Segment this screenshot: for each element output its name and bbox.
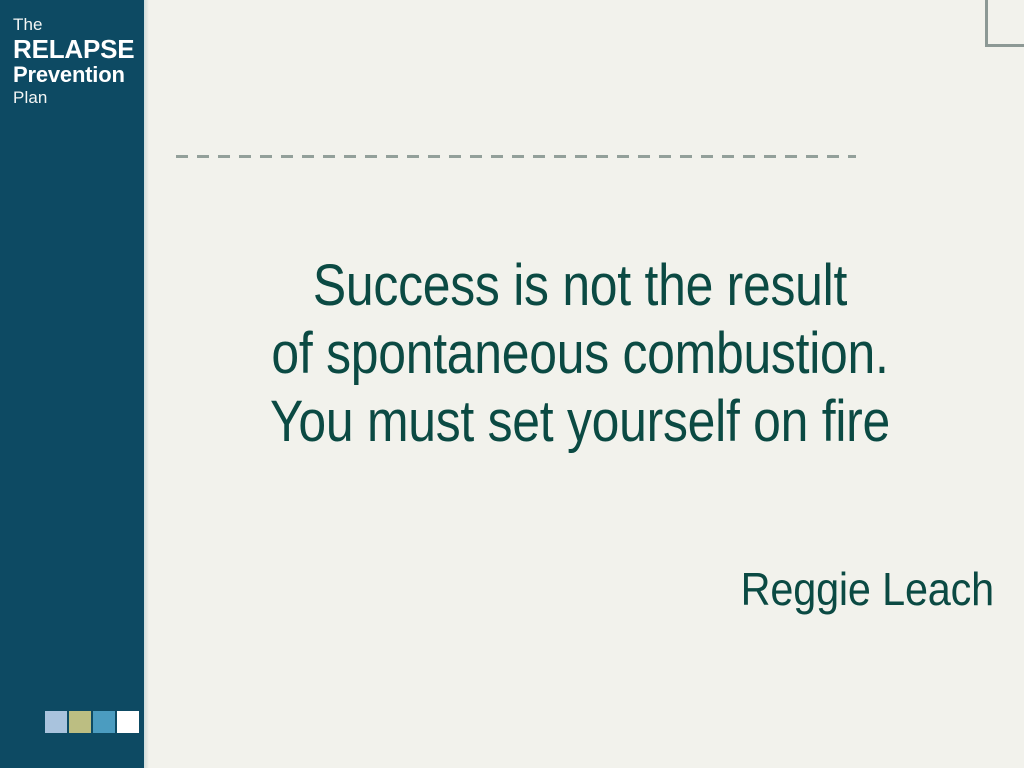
corner-bracket-decoration bbox=[985, 0, 1024, 47]
quote-line-3: You must set yourself on fire bbox=[210, 388, 950, 456]
swatch-light-blue bbox=[45, 711, 67, 733]
quote-slide: The RELAPSE Prevention Plan Success is n… bbox=[0, 0, 1024, 768]
swatch-white bbox=[117, 711, 139, 733]
quote-line-1: Success is not the result bbox=[210, 252, 950, 320]
quote-line-2: of spontaneous combustion. bbox=[210, 320, 950, 388]
logo-line-the: The bbox=[13, 16, 143, 33]
sidebar-edge-highlight bbox=[144, 0, 149, 768]
corner-bracket-vertical-rule bbox=[985, 0, 988, 47]
logo-line-relapse: RELAPSE bbox=[13, 36, 143, 62]
brand-logo: The RELAPSE Prevention Plan bbox=[13, 16, 143, 106]
logo-line-prevention: Prevention bbox=[13, 64, 143, 86]
quote-text: Success is not the result of spontaneous… bbox=[210, 252, 950, 456]
swatch-medium-blue bbox=[93, 711, 115, 733]
corner-bracket-horizontal-rule bbox=[985, 44, 1024, 47]
swatch-olive bbox=[69, 711, 91, 733]
color-swatch-strip bbox=[45, 711, 139, 733]
quote-attribution: Reggie Leach bbox=[234, 561, 994, 617]
logo-line-plan: Plan bbox=[13, 89, 143, 106]
sidebar bbox=[0, 0, 144, 768]
dashed-divider bbox=[176, 155, 856, 158]
